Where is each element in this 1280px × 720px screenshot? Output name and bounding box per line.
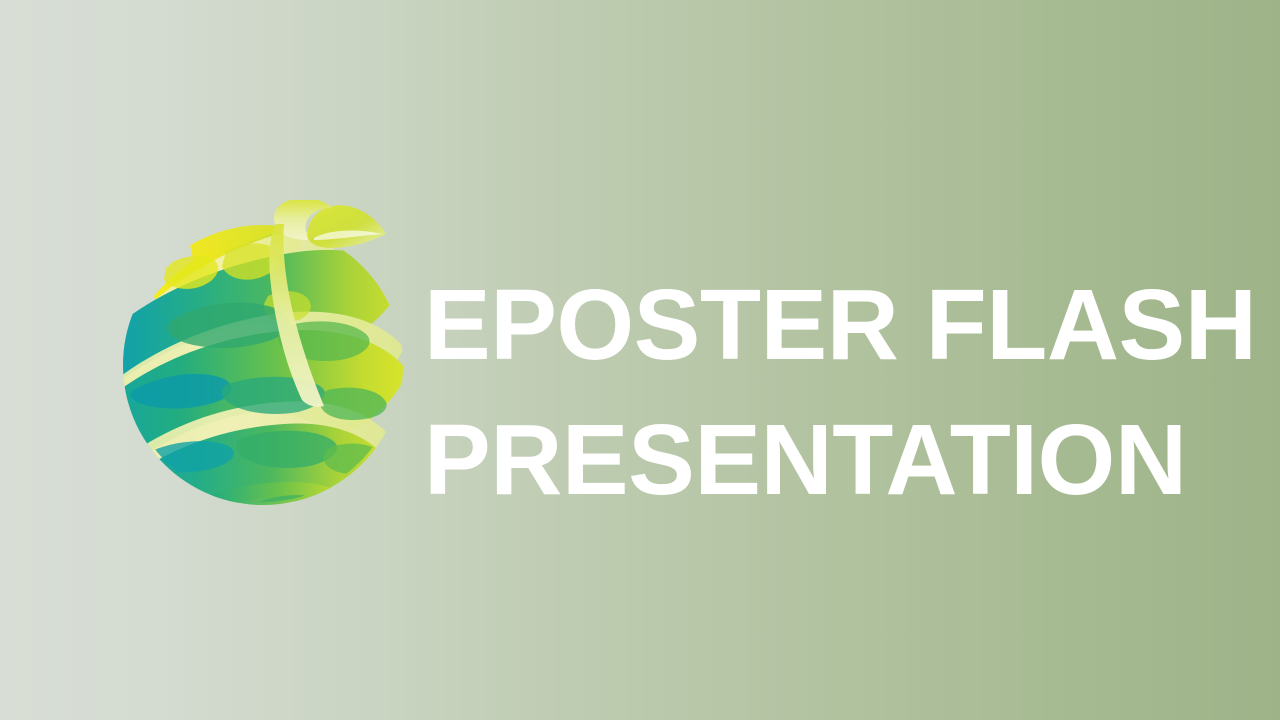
globe-ribbon-leaf-logo [118,200,408,520]
title-slide: EPOSTER FLASH PRESENTATION [0,0,1280,720]
title-line-2: PRESENTATION [424,393,1224,528]
slide-title: EPOSTER FLASH PRESENTATION [424,258,1224,528]
globe-bands [118,200,408,520]
title-line-1: EPOSTER FLASH [424,258,1224,393]
